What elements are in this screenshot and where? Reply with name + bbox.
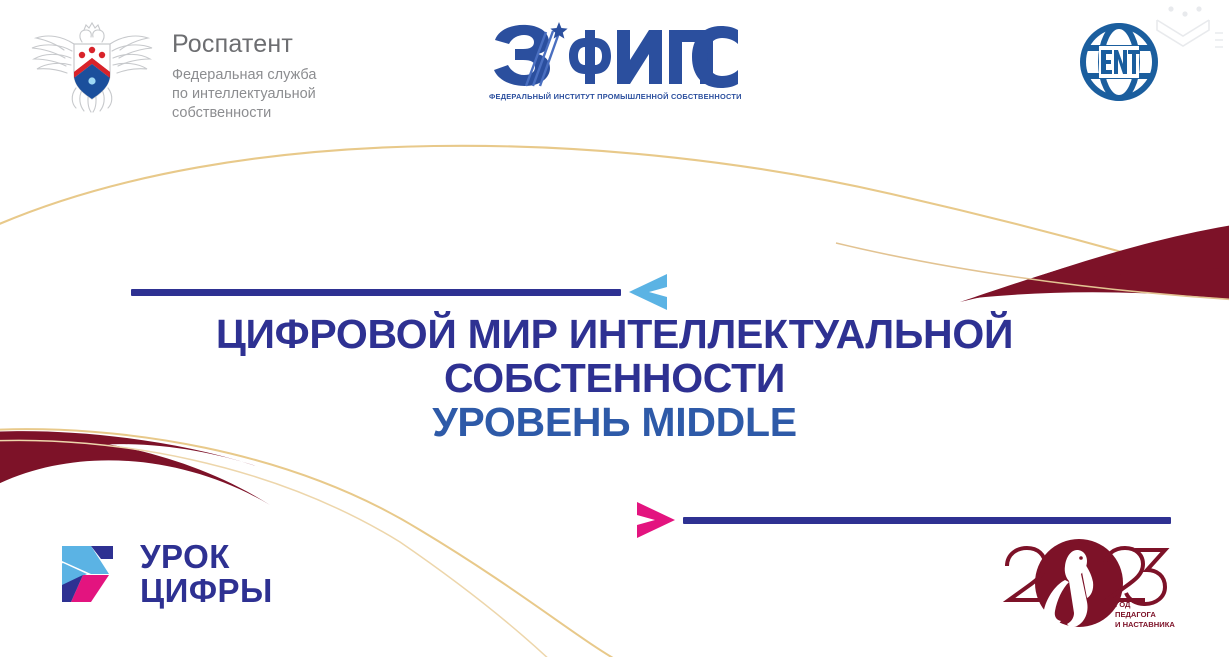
chevron-right-icon xyxy=(633,500,679,540)
maroon-swoosh-top-right xyxy=(975,224,1229,300)
fips-logo: ФЕДЕРАЛЬНЫЙ ИНСТИТУТ ПРОМЫШЛЕННОЙ СОБСТВ… xyxy=(489,20,739,101)
urok-cifry-line-1: УРОК xyxy=(140,540,273,574)
double-chevron-mark-icon xyxy=(61,541,127,607)
pelican-2023-emblem-icon: ГОД ПЕДАГОГА И НАСТАВНИКА xyxy=(995,536,1175,642)
maroon-swoosh-bottom-left-2 xyxy=(0,436,270,505)
year-caption-line-3: И НАСТАВНИКА xyxy=(1115,620,1175,629)
year-caption-line-1: ГОД xyxy=(1115,600,1131,609)
double-headed-eagle-emblem-icon xyxy=(26,18,158,114)
year-digit-3 xyxy=(1126,550,1165,604)
urok-cifry-line-2: ЦИФРЫ xyxy=(140,574,273,608)
header-logo-bar: Роспатент Федеральная служба по интеллек… xyxy=(0,0,1229,130)
page-title: ЦИФРОВОЙ МИР ИНТЕЛЛЕКТУАЛЬНОЙ СОБСТЕННОС… xyxy=(0,313,1229,445)
gold-curve-top-right xyxy=(836,243,1229,300)
rospatent-logo: Роспатент Федеральная служба по интеллек… xyxy=(26,18,316,123)
title-rule-top xyxy=(131,272,671,312)
title-line-1: ЦИФРОВОЙ МИР ИНТЕЛЛЕКТУАЛЬНОЙ xyxy=(0,313,1229,357)
presentation-title-slide: Роспатент Федеральная служба по интеллек… xyxy=(0,0,1229,657)
title-line-2: СОБСТЕННОСТИ xyxy=(0,357,1229,401)
urok-cifry-logo: УРОК ЦИФРЫ xyxy=(61,540,273,608)
rospatent-subtitle: Федеральная служба по интеллектуальной с… xyxy=(172,66,316,123)
rule-bar xyxy=(131,289,621,296)
shield-center-star xyxy=(88,77,95,84)
vptb-globe-logo-icon xyxy=(1075,18,1163,106)
rospatent-name: Роспатент xyxy=(172,32,316,57)
rule-bar xyxy=(683,517,1171,524)
chevron-left-icon xyxy=(625,272,671,312)
fips-wordmark-icon xyxy=(489,20,739,90)
maroon-swoosh-top-right-2 xyxy=(960,226,1229,302)
title-rule-bottom xyxy=(633,500,1171,540)
title-line-3: УРОВЕНЬ MIDDLE xyxy=(0,401,1229,445)
gold-curve-top xyxy=(0,146,1229,286)
fips-subtitle: ФЕДЕРАЛЬНЫЙ ИНСТИТУТ ПРОМЫШЛЕННОЙ СОБСТВ… xyxy=(489,92,739,101)
year-caption-line-2: ПЕДАГОГА xyxy=(1115,610,1156,619)
